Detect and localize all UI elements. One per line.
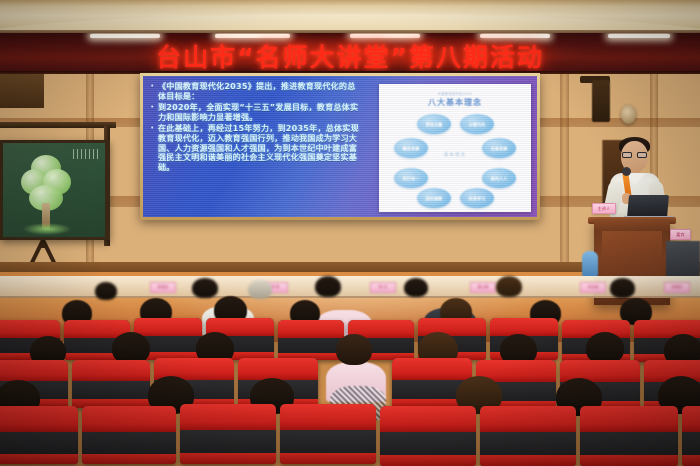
bullet-dot: • bbox=[151, 103, 156, 122]
slide-bullet: • 《中国教育现代化2035》提出，推进教育现代化的总体目标是： bbox=[151, 82, 362, 101]
audience-head bbox=[496, 276, 522, 297]
diagram-title: 八大基本理念 bbox=[379, 97, 531, 108]
diagram-node: 面向人人 bbox=[482, 168, 516, 188]
table-name-placard: 徐宝余 bbox=[150, 282, 176, 293]
presenter-laptop[interactable] bbox=[627, 195, 669, 218]
audience-head bbox=[95, 282, 117, 300]
led-banner: 台山市“名师大讲堂”第八期活动 bbox=[0, 33, 700, 73]
diagram-node: 以德为先 bbox=[460, 114, 494, 134]
rolling-chalkboard bbox=[0, 140, 110, 240]
audience-head bbox=[315, 276, 341, 297]
wall-dark-panel-left bbox=[0, 74, 44, 108]
diagram-node: 知行合一 bbox=[394, 168, 428, 188]
diagram-node: 终身学习 bbox=[460, 188, 494, 208]
audience-head bbox=[248, 280, 272, 299]
seat[interactable] bbox=[0, 406, 78, 464]
seat[interactable] bbox=[72, 360, 150, 408]
seat[interactable] bbox=[380, 406, 476, 466]
projection-screen[interactable]: • 《中国教育现代化2035》提出，推进教育现代化的总体目标是： • 到2020… bbox=[143, 76, 537, 217]
audience-head bbox=[192, 278, 218, 298]
slide-bullet: • 到2020年，全面实现“十三五”发展目标，教育总体实力和国际影响力显著增强。 bbox=[151, 103, 362, 122]
audience-head bbox=[404, 278, 428, 297]
bullet-text: 《中国教育现代化2035》提出，推进教育现代化的总体目标是： bbox=[158, 82, 362, 101]
wall-pa-speaker bbox=[592, 80, 610, 122]
bullet-text: 到2020年，全面实现“十三五”发展目标，教育总体实力和国际影响力显著增强。 bbox=[158, 103, 362, 122]
table-name-placard: 何志强 bbox=[580, 282, 606, 293]
bullet-text: 在此基础上，再经过15年努力，到2035年，总体实现教育现代化，迈入教育强国行列… bbox=[158, 124, 362, 172]
chalk-tree-drawing bbox=[21, 155, 73, 235]
blue-container bbox=[582, 251, 598, 277]
seat[interactable] bbox=[278, 320, 344, 360]
side-name-placard: 嘉宾 bbox=[670, 229, 691, 240]
podium-name-placard: 主讲人 bbox=[592, 203, 616, 214]
bullet-dot: • bbox=[151, 82, 156, 101]
diagram-node: 因材施教 bbox=[417, 188, 451, 208]
wall-clock bbox=[621, 105, 636, 124]
auditorium-scene: 台山市“名师大讲堂”第八期活动 • 《中国教育现代化2035》提出，推进教育现代… bbox=[0, 0, 700, 466]
seat[interactable] bbox=[82, 406, 176, 464]
table-name-placard: 黄小梅 bbox=[470, 282, 496, 293]
glasses-icon bbox=[622, 152, 647, 158]
diagram-node: 更加注重 bbox=[417, 114, 451, 134]
banner-title: 台山市“名师大讲堂”第八期活动 bbox=[0, 38, 700, 73]
ceiling bbox=[0, 0, 700, 34]
audience-head bbox=[610, 278, 635, 298]
diagram-node: 融合发展 bbox=[394, 138, 428, 158]
chalkboard-top-rail bbox=[0, 122, 116, 128]
seat[interactable] bbox=[280, 404, 376, 464]
table-name-placard: 徐宝余 bbox=[664, 282, 690, 293]
audience-head bbox=[336, 334, 372, 365]
seat[interactable] bbox=[682, 406, 700, 466]
diagram-node: 全面发展 bbox=[482, 138, 516, 158]
diagram-subtitle: 中国教育现代化2035 bbox=[379, 91, 531, 96]
seat[interactable] bbox=[180, 404, 276, 464]
seat[interactable] bbox=[480, 406, 576, 466]
audience-seating: 徐宝余 李 明 陈 华 黄小梅 何志强 徐宝余 bbox=[0, 276, 700, 466]
bullet-dot: • bbox=[151, 124, 156, 172]
slide-text-panel: • 《中国教育现代化2035》提出，推进教育现代化的总体目标是： • 到2020… bbox=[151, 82, 365, 217]
microphone-head bbox=[622, 167, 631, 176]
diagram-card: 中国教育现代化2035 八大基本理念 基本理念 更加注重 以德为先 全面发展 面… bbox=[379, 84, 531, 212]
projection-screen-frame: • 《中国教育现代化2035》提出，推进教育现代化的总体目标是： • 到2020… bbox=[140, 73, 540, 220]
slide-bullet: • 在此基础上，再经过15年努力，到2035年，总体实现教育现代化，迈入教育强国… bbox=[151, 124, 362, 172]
diagram-node-ring: 基本理念 更加注重 以德为先 全面发展 面向人人 终身学习 因材施教 知行合一 … bbox=[379, 108, 531, 208]
table-name-placard: 陈 华 bbox=[370, 282, 396, 293]
chalk-writing bbox=[73, 149, 99, 159]
seat[interactable] bbox=[580, 406, 678, 466]
